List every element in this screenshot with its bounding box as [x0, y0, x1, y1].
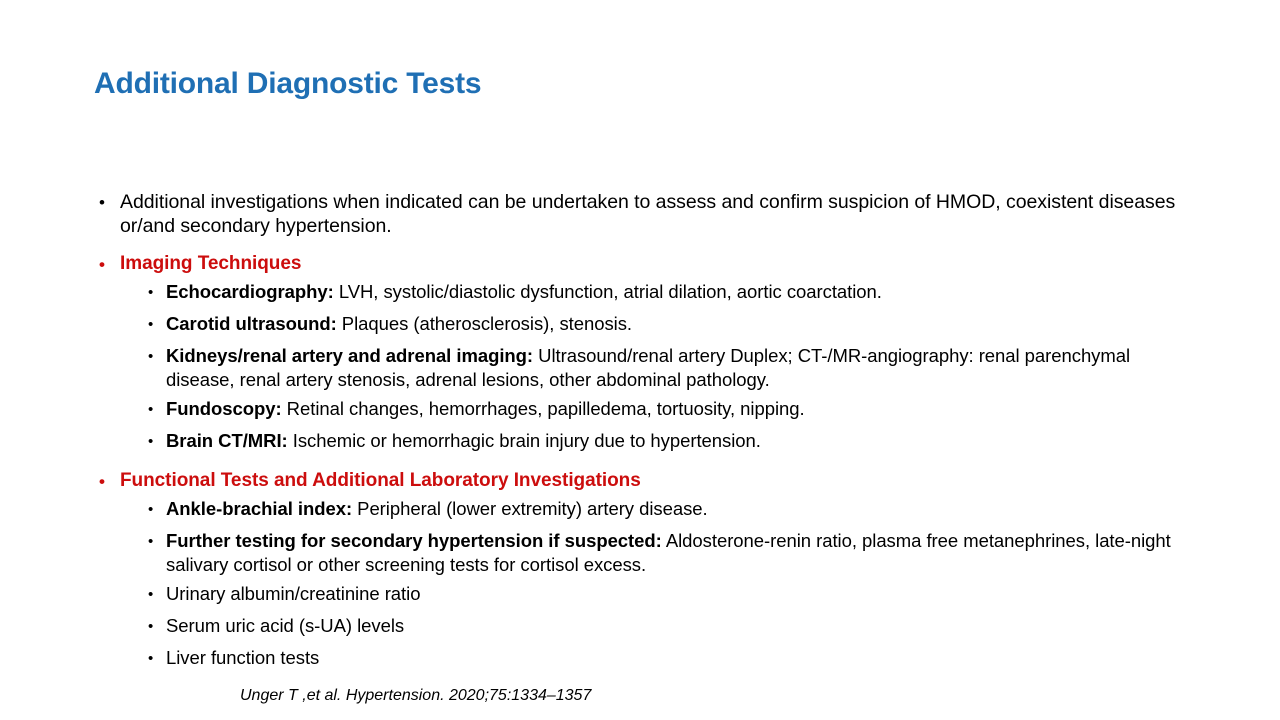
bullet-icon: • — [144, 646, 166, 672]
list-item: • Fundoscopy: Retinal changes, hemorrhag… — [94, 397, 1194, 423]
bullet-icon: • — [144, 497, 166, 523]
bullet-icon: • — [144, 344, 166, 370]
list-item-text: Carotid ultrasound: Plaques (atheroscler… — [166, 312, 1194, 336]
list-item: • Echocardiography: LVH, systolic/diasto… — [94, 280, 1194, 306]
list-item-text: Brain CT/MRI: Ischemic or hemorrhagic br… — [166, 429, 1194, 453]
list-item-text: Liver function tests — [166, 646, 1194, 670]
list-item: • Serum uric acid (s-UA) levels — [94, 614, 1194, 640]
list-item: • Further testing for secondary hyperten… — [94, 529, 1194, 576]
list-item-text: Urinary albumin/creatinine ratio — [166, 582, 1194, 606]
slide-body: • Additional investigations when indicat… — [94, 190, 1194, 706]
list-item-text: Kidneys/renal artery and adrenal imaging… — [166, 344, 1194, 391]
bullet-icon: • — [144, 397, 166, 423]
bullet-icon: • — [144, 312, 166, 338]
list-item: • Liver function tests — [94, 646, 1194, 672]
slide: Additional Diagnostic Tests • Additional… — [0, 0, 1280, 720]
list-item: • Brain CT/MRI: Ischemic or hemorrhagic … — [94, 429, 1194, 455]
bullet-icon: • — [94, 252, 120, 277]
page-title: Additional Diagnostic Tests — [94, 66, 481, 102]
bullet-icon: • — [94, 469, 120, 494]
bullet-icon: • — [94, 190, 120, 215]
intro-text: Additional investigations when indicated… — [120, 190, 1194, 238]
list-item-text: Fundoscopy: Retinal changes, hemorrhages… — [166, 397, 1194, 421]
list-item-label: Further testing for secondary hypertensi… — [166, 530, 662, 551]
bullet-icon: • — [144, 529, 166, 555]
bullet-icon: • — [144, 614, 166, 640]
citation: Unger T ,et al. Hypertension. 2020;75:13… — [94, 686, 1194, 706]
list-item-body: LVH, systolic/diastolic dysfunction, atr… — [334, 281, 882, 302]
list-item: • Carotid ultrasound: Plaques (atheroscl… — [94, 312, 1194, 338]
list-item-label: Kidneys/renal artery and adrenal imaging… — [166, 345, 533, 366]
list-item: • Urinary albumin/creatinine ratio — [94, 582, 1194, 608]
list-item-body: Retinal changes, hemorrhages, papilledem… — [282, 398, 805, 419]
list-item-label: Carotid ultrasound: — [166, 313, 337, 334]
list-item-text: Further testing for secondary hypertensi… — [166, 529, 1194, 576]
bullet-icon: • — [144, 280, 166, 306]
section-heading-imaging: • Imaging Techniques — [94, 252, 1194, 277]
list-item-body: Ischemic or hemorrhagic brain injury due… — [288, 430, 761, 451]
list-item-text: Echocardiography: LVH, systolic/diastoli… — [166, 280, 1194, 304]
list-item-label: Fundoscopy: — [166, 398, 282, 419]
list-item-label: Echocardiography: — [166, 281, 334, 302]
list-item-body: Peripheral (lower extremity) artery dise… — [352, 498, 708, 519]
list-item-label: Ankle-brachial index: — [166, 498, 352, 519]
list-item: • Kidneys/renal artery and adrenal imagi… — [94, 344, 1194, 391]
section-heading-functional: • Functional Tests and Additional Labora… — [94, 469, 1194, 494]
list-item-intro: • Additional investigations when indicat… — [94, 190, 1194, 238]
list-item-text: Ankle-brachial index: Peripheral (lower … — [166, 497, 1194, 521]
list-item-text: Serum uric acid (s-UA) levels — [166, 614, 1194, 638]
bullet-icon: • — [144, 582, 166, 608]
list-item-body: Plaques (atherosclerosis), stenosis. — [337, 313, 632, 334]
section-heading-label: Functional Tests and Additional Laborato… — [120, 469, 1194, 493]
section-heading-label: Imaging Techniques — [120, 252, 1194, 276]
list-item: • Ankle-brachial index: Peripheral (lowe… — [94, 497, 1194, 523]
list-item-label: Brain CT/MRI: — [166, 430, 288, 451]
bullet-icon: • — [144, 429, 166, 455]
